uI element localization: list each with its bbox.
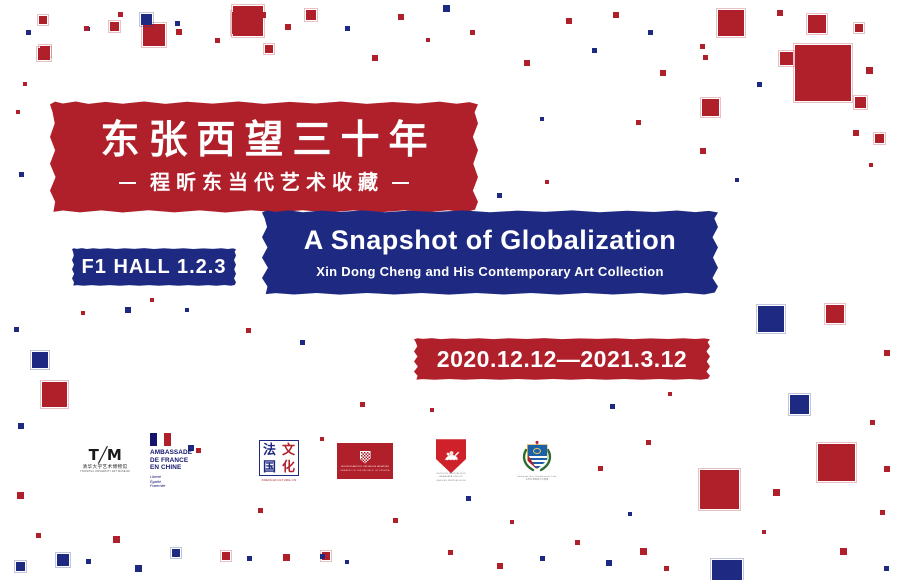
confetti-square: [265, 45, 273, 53]
confetti-square: [36, 533, 41, 538]
confetti-square: [19, 172, 24, 177]
confetti-square: [853, 130, 859, 136]
english-main-title: A Snapshot of Globalization: [304, 227, 677, 254]
confetti-square: [443, 5, 450, 12]
logo-embassy-lithuania: LIETUVOS RESPUBLIKOS AMBASADA KINIJOS LI…: [408, 432, 494, 490]
confetti-square: [258, 508, 263, 513]
exhibition-poster: 东张西望三十年 程昕东当代艺术收藏 A Snapshot of Globaliz…: [0, 0, 900, 580]
ambassade-line-1: AMBASSADE: [150, 449, 192, 457]
culture-char-guo: 国: [260, 458, 279, 475]
confetti-square: [497, 193, 502, 198]
logo-embassy-croatia: VELEPOSLANSTVO REPUBLIKE HRVATSKE EMBASS…: [322, 432, 408, 490]
confetti-square: [870, 420, 875, 425]
confetti-square: [880, 510, 885, 515]
logo-tsinghua-art-museum: T╱M 清华大学艺术博物馆 TSINGHUA UNIVERSITY ART MU…: [60, 432, 150, 490]
tam-chinese-name: 清华大学艺术博物馆: [83, 465, 128, 470]
confetti-square: [795, 45, 851, 101]
confetti-square: [40, 46, 50, 56]
confetti-square: [125, 307, 131, 313]
tam-english-name: TSINGHUA UNIVERSITY ART MUSEUM: [80, 471, 130, 473]
logo-french-culture: 法 文 国 化 FRENCHCULTURE.CN: [236, 432, 322, 490]
confetti-square: [758, 306, 784, 332]
confetti-square: [646, 440, 651, 445]
confetti-square: [664, 566, 669, 571]
confetti-square: [818, 444, 855, 481]
chinese-main-title: 东张西望三十年: [91, 121, 436, 160]
confetti-square: [39, 16, 47, 24]
chinese-title-banner: 东张西望三十年 程昕东当代艺术收藏: [50, 101, 478, 213]
confetti-square: [81, 311, 85, 315]
tam-monogram-icon: T╱M: [89, 448, 122, 463]
confetti-square: [393, 518, 398, 523]
confetti-square: [780, 52, 793, 65]
confetti-square: [260, 12, 266, 18]
confetti-square: [113, 536, 120, 543]
motto-fraternite: Fraternité: [150, 484, 165, 489]
confetti-square: [762, 530, 766, 534]
english-title-banner: A Snapshot of Globalization Xin Dong Che…: [262, 210, 718, 295]
confetti-square: [884, 466, 890, 472]
confetti-square: [23, 82, 27, 86]
dash-right-icon: [392, 182, 409, 184]
confetti-square: [640, 548, 647, 555]
confetti-square: [360, 402, 365, 407]
culture-char-wen: 文: [279, 441, 298, 458]
confetti-square: [32, 352, 48, 368]
confetti-square: [660, 70, 666, 76]
confetti-square: [869, 163, 873, 167]
confetti-square: [26, 30, 31, 35]
confetti-square: [718, 10, 744, 36]
confetti-square: [700, 44, 705, 49]
date-banner: 2020.12.12—2021.3.12: [414, 338, 710, 380]
confetti-square: [628, 512, 632, 516]
french-culture-mark-icon: 法 文 国 化: [259, 440, 299, 476]
confetti-square: [712, 560, 742, 580]
confetti-square: [320, 554, 325, 559]
confetti-square: [322, 552, 330, 560]
confetti-square: [84, 26, 89, 31]
confetti-square: [448, 550, 453, 555]
confetti-square: [110, 22, 119, 31]
confetti-square: [38, 48, 50, 60]
confetti-square: [773, 489, 780, 496]
confetti-square: [606, 560, 612, 566]
confetti-square: [300, 340, 305, 345]
confetti-square: [790, 395, 809, 414]
ambassade-line-3: EN CHINE: [150, 464, 192, 472]
date-range-label: 2020.12.12—2021.3.12: [437, 348, 687, 371]
french-culture-caption: FRENCHCULTURE.CN: [262, 478, 297, 482]
english-subtitle: Xin Dong Cheng and His Contemporary Art …: [316, 265, 663, 278]
confetti-square: [777, 10, 783, 16]
cuba-caption-chinese: 古巴共和国驻华大使馆: [526, 479, 549, 482]
french-flag-icon: [150, 433, 171, 446]
confetti-square: [875, 134, 884, 143]
confetti-square: [470, 30, 475, 35]
confetti-square: [466, 496, 471, 501]
confetti-square: [175, 21, 180, 26]
confetti-square: [575, 540, 580, 545]
confetti-square: [510, 520, 514, 524]
lithuania-line-3: LIAUDIES RESPUBLIKOJE: [436, 480, 466, 483]
hall-label: F1 HALL 1.2.3: [82, 257, 227, 277]
confetti-square: [610, 404, 615, 409]
logo-embassy-cuba: Embajada de la República de Cuba 古巴共和国驻华…: [494, 432, 580, 490]
confetti-square: [598, 466, 603, 471]
croatia-plate: VELEPOSLANSTVO REPUBLIKE HRVATSKE EMBASS…: [337, 443, 393, 479]
logo-ambassade-de-france: AMBASSADE DE FRANCE EN CHINE Liberté Éga…: [150, 432, 236, 490]
croatia-line-1: VELEPOSLANSTVO REPUBLIKE HRVATSKE: [341, 466, 389, 468]
confetti-square: [246, 328, 251, 333]
culture-char-fa: 法: [260, 441, 279, 458]
chinese-subtitle: 程昕东当代艺术收藏: [144, 173, 384, 193]
confetti-square: [497, 563, 503, 569]
confetti-square: [826, 305, 844, 323]
confetti-square: [884, 566, 889, 571]
confetti-square: [172, 549, 180, 557]
confetti-square: [143, 24, 165, 46]
confetti-square: [840, 548, 847, 555]
confetti-square: [398, 14, 404, 20]
confetti-square: [86, 27, 90, 31]
confetti-square: [703, 55, 708, 60]
confetti-square: [247, 556, 252, 561]
confetti-square: [540, 117, 544, 121]
confetti-square: [808, 15, 826, 33]
dash-left-icon: [119, 182, 136, 184]
confetti-square: [545, 180, 549, 184]
confetti-square: [135, 565, 142, 572]
confetti-square: [150, 298, 154, 302]
confetti-square: [42, 382, 67, 407]
confetti-square: [855, 97, 866, 108]
confetti-square: [426, 38, 430, 42]
sponsor-logo-row: T╱M 清华大学艺术博物馆 TSINGHUA UNIVERSITY ART MU…: [60, 432, 580, 490]
confetti-square: [18, 423, 24, 429]
confetti-square: [668, 392, 672, 396]
chinese-subtitle-row: 程昕东当代艺术收藏: [119, 173, 409, 193]
confetti-square: [757, 82, 762, 87]
confetti-square: [524, 60, 530, 66]
confetti-square: [285, 24, 291, 30]
confetti-square: [233, 6, 263, 36]
culture-char-hua: 化: [279, 458, 298, 475]
confetti-square: [215, 38, 220, 43]
confetti-square: [345, 560, 349, 564]
hall-badge: F1 HALL 1.2.3: [72, 248, 236, 286]
confetti-square: [16, 562, 25, 571]
confetti-square: [306, 10, 316, 20]
confetti-square: [176, 29, 182, 35]
confetti-square: [430, 408, 434, 412]
confetti-square: [700, 148, 706, 154]
cuba-coat-of-arms-icon: [520, 440, 554, 474]
confetti-square: [372, 55, 378, 61]
confetti-square: [17, 492, 24, 499]
confetti-square: [345, 26, 350, 31]
ambassade-motto: Liberté Égalité Fraternité: [150, 475, 165, 490]
confetti-square: [702, 99, 719, 116]
confetti-square: [57, 554, 69, 566]
confetti-square: [232, 12, 254, 34]
ambassade-line-2: DE FRANCE: [150, 457, 192, 465]
lithuania-vytis-shield-icon: [436, 439, 466, 473]
confetti-square: [866, 67, 873, 74]
lithuania-caption: LIETUVOS RESPUBLIKOS AMBASADA KINIJOS LI…: [436, 473, 466, 482]
croatia-line-2: EMBASSY OF THE REPUBLIC OF CROATIA: [340, 470, 389, 472]
confetti-square: [648, 30, 653, 35]
confetti-square: [540, 556, 545, 561]
confetti-square: [141, 14, 152, 25]
confetti-square: [592, 48, 597, 53]
croatia-checkerboard-shield-icon: [360, 451, 371, 464]
confetti-square: [222, 552, 230, 560]
confetti-square: [566, 18, 572, 24]
confetti-square: [855, 24, 863, 32]
confetti-square: [14, 327, 19, 332]
confetti-square: [636, 120, 641, 125]
confetti-square: [884, 350, 890, 356]
confetti-square: [735, 178, 739, 182]
confetti-square: [283, 554, 290, 561]
confetti-square: [118, 12, 123, 17]
lithuania-knight-icon: [441, 446, 462, 466]
confetti-square: [613, 12, 619, 18]
confetti-square: [86, 559, 91, 564]
ambassade-name: AMBASSADE DE FRANCE EN CHINE: [150, 449, 192, 472]
confetti-square: [185, 308, 189, 312]
confetti-square: [16, 110, 20, 114]
confetti-square: [700, 470, 739, 509]
